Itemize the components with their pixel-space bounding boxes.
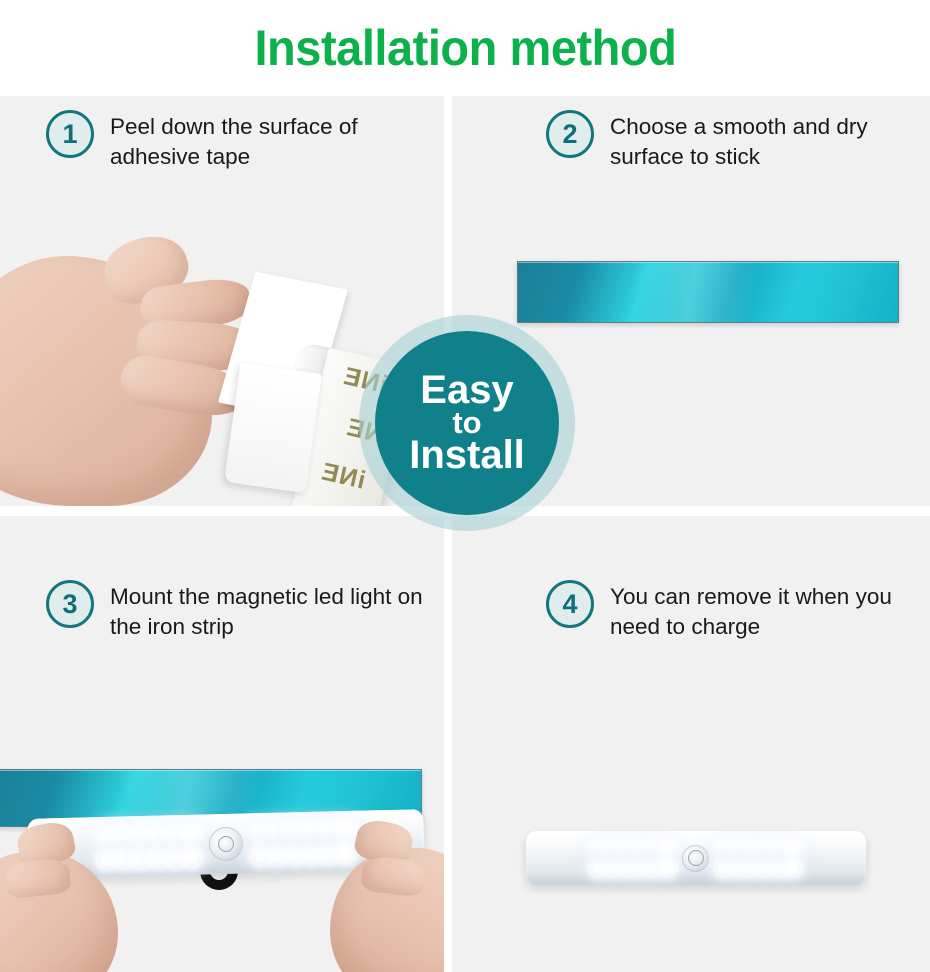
- led-lamp: [786, 861, 800, 875]
- step-number-badge-1: 1: [46, 110, 94, 158]
- led-lamp: [251, 822, 268, 839]
- led-column: [183, 824, 201, 865]
- led-face: [540, 841, 853, 874]
- led-lamp: [619, 841, 633, 855]
- led-column: [772, 841, 786, 875]
- led-lamp: [183, 848, 200, 865]
- step-number-badge-2: 2: [546, 110, 594, 158]
- step-description-4: You can remove it when you need to charg…: [610, 580, 930, 642]
- badge-inner-circle: Easy to Install: [375, 331, 559, 515]
- led-column: [132, 825, 150, 866]
- iron-strip: [517, 261, 899, 323]
- step-description-2: Choose a smooth and dry surface to stick: [610, 110, 930, 172]
- led-column: [285, 822, 303, 863]
- led-lamp: [730, 861, 744, 875]
- led-lamp: [183, 824, 200, 841]
- led-lamp: [337, 844, 354, 861]
- led-lamp: [285, 822, 302, 839]
- led-column: [633, 841, 647, 875]
- led-lamp: [149, 849, 166, 866]
- led-column: [730, 841, 744, 875]
- led-column: [647, 841, 661, 875]
- step-number-badge-3: 3: [46, 580, 94, 628]
- steps-grid: 1 Peel down the surface of adhesive tape…: [0, 96, 930, 972]
- led-lamp: [647, 861, 661, 875]
- led-lamp: [661, 861, 675, 875]
- step-header-3: 3 Mount the magnetic led light on the ir…: [46, 580, 440, 642]
- led-lamp: [166, 849, 183, 866]
- led-lamp: [772, 841, 786, 855]
- pir-sensor-icon: [682, 845, 709, 872]
- led-lamp: [303, 845, 320, 862]
- tape-liner-peeled: [224, 363, 322, 493]
- led-lamp: [320, 845, 337, 862]
- led-column: [115, 826, 133, 867]
- led-lamp: [744, 861, 758, 875]
- step-description-3: Mount the magnetic led light on the iron…: [110, 580, 440, 642]
- led-column: [758, 841, 772, 875]
- step-panel-4: 4 You can remove it when you need to cha…: [452, 516, 930, 972]
- led-column: [336, 820, 354, 861]
- led-lamp: [252, 846, 269, 863]
- led-lamp: [115, 826, 132, 843]
- led-lamp: [647, 841, 661, 855]
- step-description-1: Peel down the surface of adhesive tape: [110, 110, 440, 172]
- led-lamp: [302, 821, 319, 838]
- led-lamp: [98, 826, 115, 843]
- led-lamp: [605, 841, 619, 855]
- step-panel-3: 3 Mount the magnetic led light on the ir…: [0, 516, 444, 972]
- badge-line-1: Easy: [420, 372, 513, 409]
- led-column: [591, 841, 605, 875]
- led-column: [744, 841, 758, 875]
- led-lamp: [319, 821, 336, 838]
- led-column: [786, 841, 800, 875]
- led-column: [619, 841, 633, 875]
- led-lamp: [772, 861, 786, 875]
- led-group-left: [591, 841, 675, 875]
- led-lamp: [149, 825, 166, 842]
- title-band: Installation method: [0, 0, 930, 96]
- led-column: [716, 841, 730, 875]
- tape-brand-text: iNE: [291, 501, 341, 506]
- led-lamp: [730, 841, 744, 855]
- led-lamp: [591, 861, 605, 875]
- led-light-bar: [526, 831, 866, 885]
- led-column: [98, 826, 116, 867]
- infographic-page: Installation method 1 Peel down the surf…: [0, 0, 930, 972]
- led-lamp: [605, 861, 619, 875]
- led-lamp: [716, 861, 730, 875]
- led-lamp: [744, 841, 758, 855]
- led-lamp: [786, 841, 800, 855]
- easy-to-install-badge: Easy to Install: [359, 315, 575, 531]
- led-lamp: [619, 861, 633, 875]
- led-lamp: [591, 841, 605, 855]
- led-column: [605, 841, 619, 875]
- led-lamp: [98, 850, 115, 867]
- led-column: [319, 821, 337, 862]
- led-lamp: [633, 841, 647, 855]
- led-column: [268, 822, 286, 863]
- led-lamp: [336, 820, 353, 837]
- step-number-badge-4: 4: [546, 580, 594, 628]
- led-lamp: [132, 849, 149, 866]
- led-lamp: [758, 861, 772, 875]
- led-lamp: [286, 846, 303, 863]
- led-column: [302, 821, 320, 862]
- led-lamp: [115, 850, 132, 867]
- step-header-2: 2 Choose a smooth and dry surface to sti…: [546, 110, 930, 172]
- led-lamp: [633, 861, 647, 875]
- step-header-4: 4 You can remove it when you need to cha…: [546, 580, 930, 642]
- step-header-1: 1 Peel down the surface of adhesive tape: [46, 110, 440, 172]
- led-column: [251, 822, 269, 863]
- led-lamp: [716, 841, 730, 855]
- led-lamp: [166, 825, 183, 842]
- led-column: [149, 825, 167, 866]
- led-lamp: [269, 846, 286, 863]
- led-group-right: [716, 841, 800, 875]
- page-title: Installation method: [254, 19, 676, 77]
- led-lamp: [661, 841, 675, 855]
- badge-line-3: Install: [409, 437, 525, 474]
- led-column: [166, 825, 184, 866]
- led-column: [661, 841, 675, 875]
- led-lamp: [758, 841, 772, 855]
- led-lamp: [268, 822, 285, 839]
- pir-sensor-icon: [209, 827, 244, 862]
- led-lamp: [132, 825, 149, 842]
- led-group-left: [98, 824, 201, 867]
- led-group-right: [251, 820, 354, 863]
